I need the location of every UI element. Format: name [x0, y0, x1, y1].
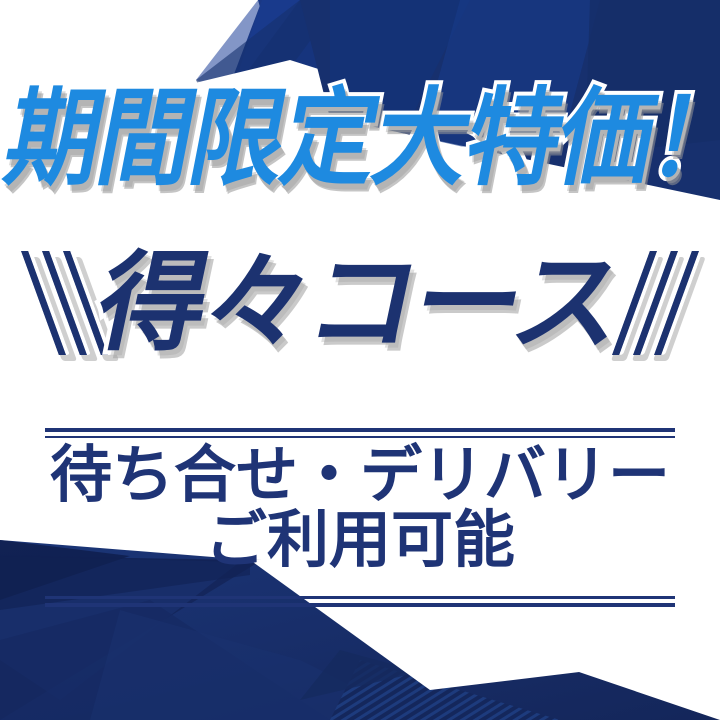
course-title-wrap: 得々コース	[100, 249, 620, 357]
promo-banner: 期間限定大特価！！ 得々コース 待ち合せ・デリバリー ご利用可能	[0, 0, 720, 720]
info-line-primary: 待ち合せ・デリバリー	[0, 444, 720, 507]
course-title: 得々コース	[89, 249, 632, 357]
right-slash-decoration	[624, 228, 687, 378]
course-band: 得々コース	[0, 228, 720, 378]
headline-area: 期間限定大特価！！	[0, 74, 720, 204]
info-text-group: 待ち合せ・デリバリー ご利用可能	[0, 444, 720, 572]
left-slash-decoration	[33, 228, 96, 378]
info-line-secondary: ご利用可能	[0, 509, 720, 572]
headline-text: 期間限定大特価！！	[0, 86, 720, 192]
info-block: 待ち合せ・デリバリー ご利用可能	[0, 418, 720, 618]
